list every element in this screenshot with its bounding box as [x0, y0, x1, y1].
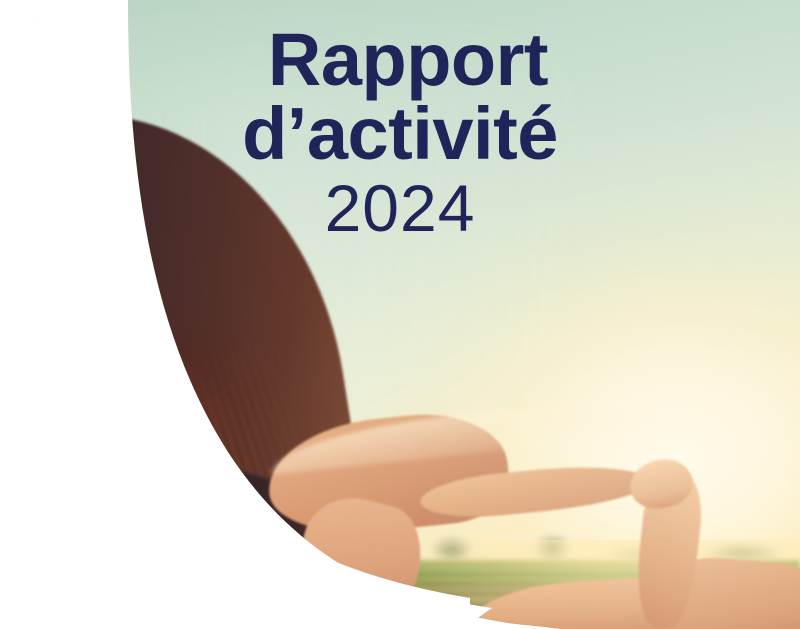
cover-title-block: Rapport d’activité 2024 — [0, 24, 800, 243]
title-line-rapport: Rapport — [0, 24, 800, 96]
title-line-activite: d’activité — [0, 98, 800, 170]
title-year: 2024 — [0, 174, 800, 243]
report-cover: Rapport d’activité 2024 — [0, 0, 800, 629]
